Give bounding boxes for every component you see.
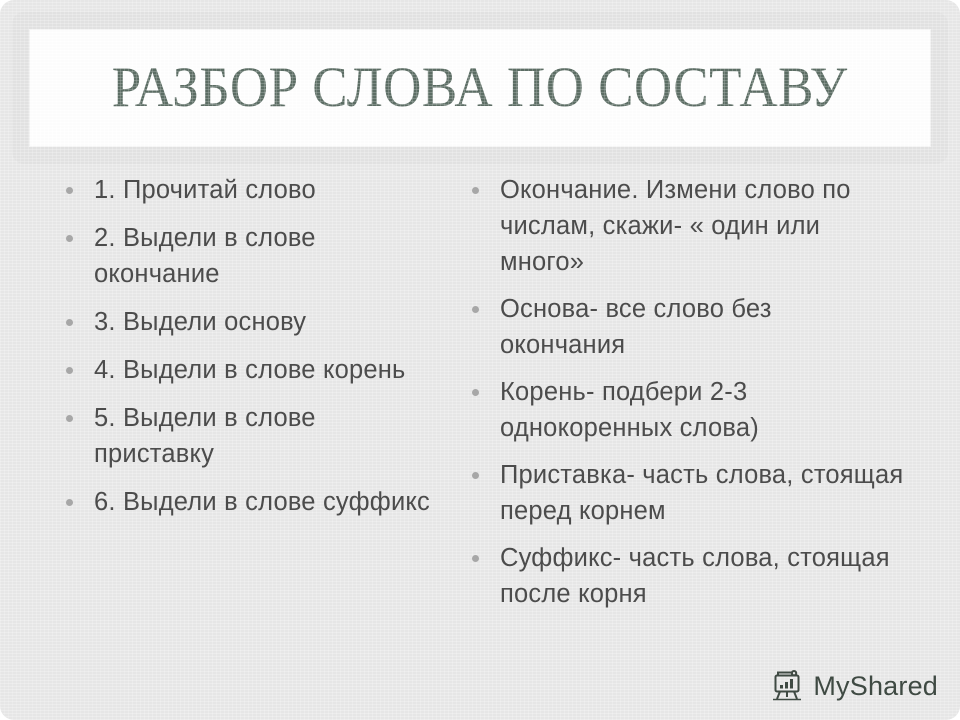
list-item: Суффикс- часть слова, стоящая после корн… <box>464 540 904 612</box>
list-item-text: Окончание. Измени слово по числам, скажи… <box>500 176 851 276</box>
list-item: Основа- все слово без окончания <box>464 291 904 363</box>
myshared-logo[interactable]: MyShared <box>771 670 938 702</box>
bullet-dot-icon <box>472 187 479 194</box>
list-item: 4. Выдели в слове корень <box>58 352 442 388</box>
myshared-logo-text: MyShared <box>813 673 938 700</box>
list-item: 5. Выдели в слове приставку <box>58 400 442 472</box>
list-item-text: 6. Выдели в слове суффикс <box>94 488 430 516</box>
list-item-text: 1. Прочитай слово <box>94 176 316 204</box>
presentation-chart-icon <box>771 670 805 702</box>
content-columns: 1. Прочитай слово 2. Выдели в слове окон… <box>0 172 960 623</box>
list-item: 2. Выдели в слове окончание <box>58 220 442 292</box>
left-bullet-list: 1. Прочитай слово 2. Выдели в слове окон… <box>58 172 442 520</box>
bullet-dot-icon <box>66 367 73 374</box>
list-item-text: Корень- подбери 2-3 однокоренных слова) <box>500 378 759 442</box>
list-item: Корень- подбери 2-3 однокоренных слова) <box>464 374 904 446</box>
bullet-dot-icon <box>472 472 479 479</box>
bullet-dot-icon <box>472 389 479 396</box>
list-item-text: 4. Выдели в слове корень <box>94 356 406 384</box>
right-column: Окончание. Измени слово по числам, скажи… <box>452 172 922 623</box>
left-column: 1. Прочитай слово 2. Выдели в слове окон… <box>0 172 452 623</box>
right-bullet-list: Окончание. Измени слово по числам, скажи… <box>464 172 904 612</box>
bullet-dot-icon <box>472 555 479 562</box>
list-item-text: Приставка- часть слова, стоящая перед ко… <box>500 461 903 525</box>
list-item: Приставка- часть слова, стоящая перед ко… <box>464 457 904 529</box>
list-item-text: 2. Выдели в слове окончание <box>94 224 316 288</box>
bullet-dot-icon <box>66 187 73 194</box>
bullet-dot-icon <box>66 319 73 326</box>
bullet-dot-icon <box>66 235 73 242</box>
list-item: 6. Выдели в слове суффикс <box>58 484 442 520</box>
bullet-dot-icon <box>66 499 73 506</box>
list-item-text: Основа- все слово без окончания <box>500 295 772 359</box>
slide-canvas: Разбор слова по составу 1. Прочитай слов… <box>0 0 960 720</box>
list-item: 1. Прочитай слово <box>58 172 442 208</box>
list-item-text: 3. Выдели основу <box>94 308 306 336</box>
list-item: 3. Выдели основу <box>58 304 442 340</box>
list-item-text: 5. Выдели в слове приставку <box>94 404 316 468</box>
title-frame: Разбор слова по составу <box>12 12 948 164</box>
bullet-dot-icon <box>66 415 73 422</box>
list-item-text: Суффикс- часть слова, стоящая после корн… <box>500 544 890 608</box>
bullet-dot-icon <box>472 306 479 313</box>
list-item: Окончание. Измени слово по числам, скажи… <box>464 172 904 280</box>
title-box: Разбор слова по составу <box>30 30 930 146</box>
page-title: Разбор слова по составу <box>112 59 848 117</box>
